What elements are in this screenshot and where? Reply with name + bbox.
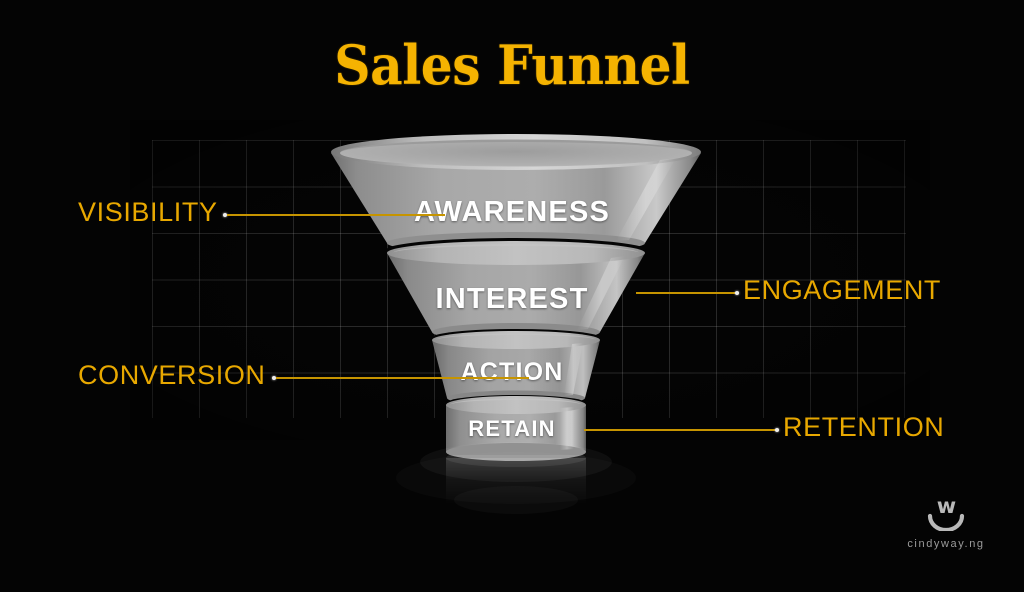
- callout-visibility: VISIBILITY: [78, 199, 218, 226]
- callout-conversion: CONVERSION: [78, 362, 266, 389]
- brand-site-text: cindyway.ng: [886, 538, 1006, 550]
- callout-conversion-leader: [276, 377, 529, 379]
- svg-text:w: w: [937, 495, 956, 518]
- callout-engagement-text: ENGAGEMENT: [743, 275, 941, 305]
- callout-retention-dot: [775, 428, 779, 432]
- callout-engagement-dot: [735, 291, 739, 295]
- callout-retention-text: RETENTION: [783, 412, 944, 442]
- callout-engagement: ENGAGEMENT: [743, 277, 941, 304]
- funnel-segment-awareness: [331, 134, 701, 254]
- page-title: Sales Funnel: [36, 33, 988, 97]
- callout-visibility-leader: [227, 214, 445, 216]
- callout-retention-leader: [584, 429, 779, 431]
- callout-engagement-leader: [636, 292, 739, 294]
- callout-visibility-text: VISIBILITY: [78, 197, 218, 227]
- brand-logo: w cindyway.ng: [886, 495, 1006, 550]
- w-smile-logo-icon: w: [923, 495, 969, 531]
- funnel-reflection: [446, 449, 586, 514]
- callout-retention: RETENTION: [783, 414, 944, 441]
- funnel-infographic-canvas: Sales Funnel: [0, 0, 1024, 592]
- callout-conversion-text: CONVERSION: [78, 360, 266, 390]
